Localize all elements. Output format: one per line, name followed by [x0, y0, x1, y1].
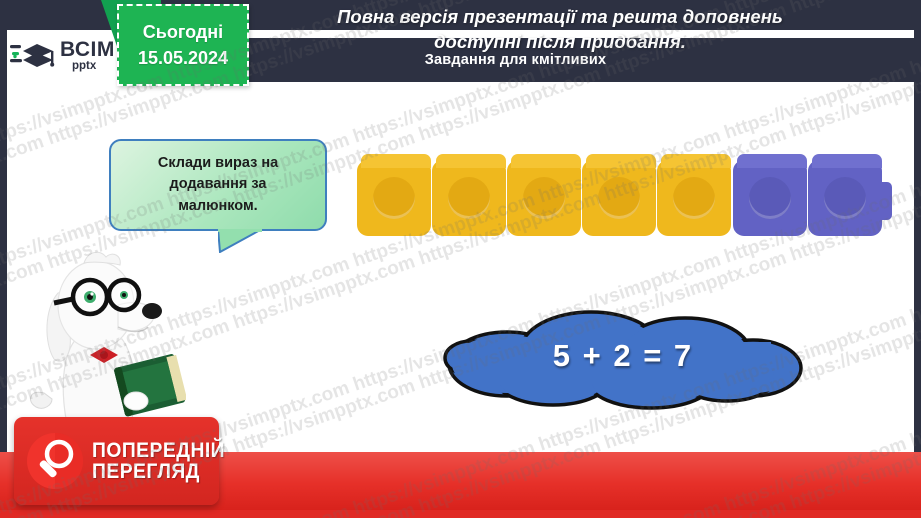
slide-right-border	[914, 0, 921, 518]
cube-yellow-4	[582, 160, 656, 236]
cube-stud-hole	[523, 177, 565, 219]
purchase-banner-text: Повна версія презентації та решта доповн…	[230, 5, 890, 55]
instruction-text: Склади вираз на додавання за малюнком.	[148, 153, 288, 216]
cube-top-edge	[812, 154, 882, 168]
dog-character	[14, 243, 186, 433]
cube-top-edge	[361, 154, 431, 168]
cube-top-edge	[511, 154, 581, 168]
date-badge-label: Сьогодні	[143, 19, 223, 45]
logo-sub-text: pptx	[72, 61, 115, 73]
cube-top-edge	[436, 154, 506, 168]
cube-yellow-2	[432, 160, 506, 236]
presentation-slide: Завдання для кмітливих ВСІМ pptx Сьогодн…	[0, 0, 921, 518]
graduation-cap-icon	[10, 39, 56, 73]
equation-text: 5 + 2 = 7	[441, 338, 805, 374]
cube-row	[357, 152, 882, 244]
cube-stud-hole	[448, 177, 490, 219]
cube-stud-hole	[598, 177, 640, 219]
cube-stud-hole	[373, 177, 415, 219]
cube-stud-hole	[673, 177, 715, 219]
logo-main-text: ВСІМ	[60, 39, 115, 60]
cube-yellow-5	[657, 160, 731, 236]
speech-bubble-tail	[218, 229, 264, 253]
instruction-speech-bubble: Склади вираз на додавання за малюнком.	[109, 139, 327, 231]
answer-cloud: 5 + 2 = 7	[441, 302, 805, 410]
preview-button-line1: ПОПЕРЕДНІЙ	[92, 440, 225, 461]
cube-top-edge	[661, 154, 731, 168]
cube-purple-1	[733, 160, 807, 236]
cube-stud-hole	[749, 177, 791, 219]
cube-connector-tab	[880, 182, 892, 220]
cube-yellow-3	[507, 160, 581, 236]
cube-top-edge	[586, 154, 656, 168]
date-badge-value: 15.05.2024	[138, 45, 228, 71]
cube-stud-hole	[824, 177, 866, 219]
magnifier-icon	[26, 432, 84, 490]
cube-yellow-1	[357, 160, 431, 236]
preview-button[interactable]: ПОПЕРЕДНІЙ ПЕРЕГЛЯД	[14, 417, 219, 505]
today-date-badge: Сьогодні 15.05.2024	[117, 4, 249, 86]
cube-top-edge	[737, 154, 807, 168]
slide-left-border	[0, 0, 7, 518]
preview-button-line2: ПЕРЕГЛЯД	[92, 461, 225, 482]
cube-purple-2	[808, 160, 882, 236]
